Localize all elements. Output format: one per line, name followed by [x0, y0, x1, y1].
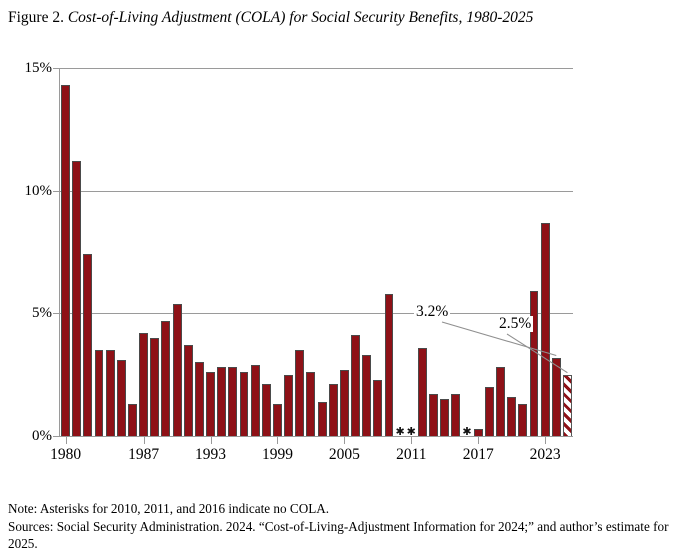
bar-1991: [184, 345, 193, 436]
x-tick-label-1980: 1980: [50, 447, 81, 463]
bar-1996: [240, 372, 249, 436]
x-tick-label-1993: 1993: [195, 447, 226, 463]
plot-area: ✱✱✱: [60, 68, 573, 436]
y-tick-mark: [53, 313, 60, 314]
footnote-sources: Sources: Social Security Administration.…: [8, 518, 694, 553]
cola-bar-chart: 0%5%10%15% ✱✱✱ 1980198719931999200520112…: [0, 48, 700, 448]
x-tick-mark: [478, 437, 479, 444]
bar-2001: [295, 350, 304, 436]
bar-2004: [329, 384, 338, 436]
bar-1992: [195, 362, 204, 436]
x-tick-label-1987: 1987: [128, 447, 159, 463]
page-title: Figure 2. Cost-of-Living Adjustment (COL…: [8, 8, 533, 28]
y-tick-label: 15%: [2, 61, 52, 76]
x-tick-label-2005: 2005: [329, 447, 360, 463]
bar-2000: [284, 375, 293, 436]
no-cola-asterisk-2016: ✱: [461, 427, 472, 438]
gridline-0pct: [60, 436, 573, 437]
bar-1998: [262, 384, 271, 436]
bar-2014: [440, 399, 449, 436]
bar-1987: [139, 333, 148, 436]
bar-1985: [117, 360, 126, 436]
y-tick-mark: [53, 68, 60, 69]
annotation-label-2025: 2.5%: [497, 316, 533, 332]
bar-1995: [228, 367, 237, 436]
no-cola-asterisk-2010: ✱: [395, 427, 406, 438]
bar-2008: [373, 380, 382, 436]
bar-2019: [496, 367, 505, 436]
footnotes: Note: Asterisks for 2010, 2011, and 2016…: [8, 500, 694, 553]
bar-2025: [563, 375, 572, 436]
x-tick-label-2017: 2017: [463, 447, 494, 463]
x-tick-mark: [344, 437, 345, 444]
bar-2021: [518, 404, 527, 436]
bar-1981: [72, 161, 81, 436]
figure-number: Figure 2.: [8, 9, 64, 26]
footnote-note: Note: Asterisks for 2010, 2011, and 2016…: [8, 500, 694, 518]
bar-2006: [351, 335, 360, 436]
bar-2002: [306, 372, 315, 436]
bar-1993: [206, 372, 215, 436]
x-tick-mark: [66, 437, 67, 444]
bar-2007: [362, 355, 371, 436]
x-tick-mark: [144, 437, 145, 444]
y-tick-label: 5%: [2, 306, 52, 321]
bar-1997: [251, 365, 260, 436]
bar-1982: [83, 254, 92, 436]
bar-1990: [173, 304, 182, 436]
x-tick-label-2011: 2011: [396, 447, 426, 463]
bar-2023: [541, 223, 550, 436]
y-tick-mark: [53, 191, 60, 192]
bar-1988: [150, 338, 159, 436]
annotation-label-2024: 3.2%: [414, 304, 450, 320]
bar-2013: [429, 394, 438, 436]
bar-2022: [530, 291, 539, 436]
bar-2020: [507, 397, 516, 436]
bar-2017: [474, 429, 483, 436]
x-tick-mark: [211, 437, 212, 444]
bar-2009: [385, 294, 394, 436]
x-tick-mark: [411, 437, 412, 444]
figure-page: Figure 2. Cost-of-Living Adjustment (COL…: [0, 0, 700, 555]
y-tick-label: 10%: [2, 184, 52, 199]
x-tick-label-2023: 2023: [530, 447, 561, 463]
x-tick-label-1999: 1999: [262, 447, 293, 463]
y-tick-mark: [53, 436, 60, 437]
bar-1986: [128, 404, 137, 436]
bar-2024: [552, 358, 561, 437]
bar-1980: [61, 85, 70, 436]
bar-2012: [418, 348, 427, 436]
bar-1999: [273, 404, 282, 436]
y-tick-label: 0%: [2, 429, 52, 444]
bar-2018: [485, 387, 494, 436]
bar-2015: [451, 394, 460, 436]
bar-2003: [318, 402, 327, 436]
x-tick-mark: [545, 437, 546, 444]
bar-1989: [161, 321, 170, 436]
bar-2005: [340, 370, 349, 436]
bar-1984: [106, 350, 115, 436]
bar-1994: [217, 367, 226, 436]
x-tick-mark: [277, 437, 278, 444]
figure-title-text: Cost-of-Living Adjustment (COLA) for Soc…: [68, 9, 534, 26]
bar-1983: [95, 350, 104, 436]
